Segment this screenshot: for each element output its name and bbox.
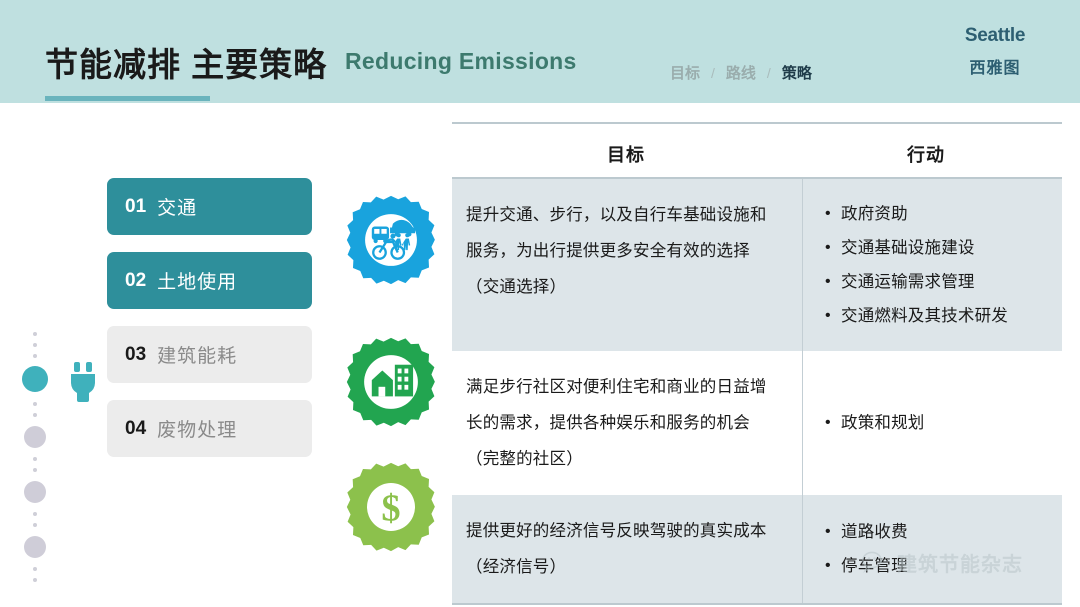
rail-dot <box>33 578 37 582</box>
breadcrumb-item-strategy[interactable]: 策略 <box>782 62 812 83</box>
action-item-label: 政府资助 <box>841 197 908 231</box>
action-item: • 政策和规划 <box>825 406 1052 440</box>
action-item-label: 政策和规划 <box>841 406 925 440</box>
breadcrumb-separator: / <box>767 65 771 81</box>
nav-card-building-energy[interactable]: 03 建筑能耗 <box>107 326 312 383</box>
action-item-label: 道路收费 <box>841 515 908 549</box>
gear-transport-icon <box>343 192 439 288</box>
gear-economy-icon: $ <box>343 459 439 555</box>
breadcrumb: 目标 / 路线 / 策略 <box>670 62 812 83</box>
action-item: • 道路收费 <box>825 515 1052 549</box>
strategy-nav-list: 01 交通 02 土地使用 03 建筑能耗 04 废物处理 <box>107 178 312 474</box>
rail-step-inactive[interactable] <box>24 426 46 448</box>
rail-dot <box>33 402 37 406</box>
nav-card-label: 土地使用 <box>157 267 237 294</box>
rail-step-inactive[interactable] <box>24 536 46 558</box>
goal-cell: 提供更好的经济信号反映驾驶的真实成本（经济信号） <box>452 495 802 603</box>
table-row: 提升交通、步行，以及自行车基础设施和服务，为出行提供更多安全有效的选择（交通选择… <box>452 179 1062 351</box>
breadcrumb-separator: / <box>711 65 715 81</box>
rail-step-active[interactable] <box>22 366 48 392</box>
gear-building-icon <box>343 334 439 430</box>
progress-rail <box>22 330 48 600</box>
goal-cell: 提升交通、步行，以及自行车基础设施和服务，为出行提供更多安全有效的选择（交通选择… <box>452 179 802 351</box>
nav-card-number: 03 <box>125 344 146 366</box>
seattle-logo-en: Seattle <box>930 25 1060 47</box>
action-item: • 交通燃料及其技术研发 <box>825 299 1052 333</box>
title-underline <box>45 96 210 101</box>
rail-dot <box>33 413 37 417</box>
table-header-row: 目标 行动 <box>452 122 1062 179</box>
bullet-icon: • <box>825 299 841 333</box>
slide-header: 节能减排 主要策略 Reducing Emissions 目标 / 路线 / 策… <box>0 0 1080 103</box>
seattle-logo-cn: 西雅图 <box>930 54 1060 78</box>
page-title: 节能减排 主要策略 <box>45 38 327 86</box>
column-header-goal: 目标 <box>607 141 645 167</box>
bullet-icon: • <box>825 549 841 583</box>
page-subtitle: Reducing Emissions <box>345 48 577 75</box>
table-bottom-rule <box>452 603 1062 605</box>
nav-card-number: 04 <box>125 418 146 440</box>
nav-card-land-use[interactable]: 02 土地使用 <box>107 252 312 309</box>
rail-dot <box>33 457 37 461</box>
action-item: • 交通基础设施建设 <box>825 231 1052 265</box>
nav-card-number: 01 <box>125 196 146 218</box>
svg-text:$: $ <box>381 487 400 529</box>
watermark: 建筑节能杂志 <box>862 548 1023 577</box>
rail-step-inactive[interactable] <box>24 481 46 503</box>
rail-dot <box>33 512 37 516</box>
breadcrumb-item-goals[interactable]: 目标 <box>670 62 700 83</box>
goal-cell: 满足步行社区对便利住宅和商业的日益增长的需求，提供各种娱乐和服务的机会（完整的社… <box>452 351 802 495</box>
action-item-label: 交通燃料及其技术研发 <box>841 299 1008 333</box>
bullet-icon: • <box>825 197 841 231</box>
action-item-label: 交通运输需求管理 <box>841 265 975 299</box>
breadcrumb-item-roadmap[interactable]: 路线 <box>726 62 756 83</box>
rail-dot <box>33 343 37 347</box>
table-row: 满足步行社区对便利住宅和商业的日益增长的需求，提供各种娱乐和服务的机会（完整的社… <box>452 351 1062 495</box>
bullet-icon: • <box>825 515 841 549</box>
wechat-icon <box>862 551 888 575</box>
rail-dot <box>33 332 37 336</box>
action-item: • 政府资助 <box>825 197 1052 231</box>
rail-dot <box>33 468 37 472</box>
column-header-action: 行动 <box>907 141 945 167</box>
nav-card-label: 废物处理 <box>157 415 237 442</box>
action-cell: • 政府资助 • 交通基础设施建设 • 交通运输需求管理 • 交通燃料及其技术研… <box>802 179 1062 351</box>
nav-card-transport[interactable]: 01 交通 <box>107 178 312 235</box>
rail-dot <box>33 567 37 571</box>
nav-card-label: 建筑能耗 <box>157 341 237 368</box>
bullet-icon: • <box>825 406 841 440</box>
slide-root: 节能减排 主要策略 Reducing Emissions 目标 / 路线 / 策… <box>0 0 1080 607</box>
nav-card-number: 02 <box>125 270 146 292</box>
action-item: • 交通运输需求管理 <box>825 265 1052 299</box>
plug-icon <box>66 362 100 402</box>
nav-card-label: 交通 <box>157 193 197 220</box>
watermark-text: 建筑节能杂志 <box>897 548 1023 577</box>
nav-card-waste[interactable]: 04 废物处理 <box>107 400 312 457</box>
bullet-icon: • <box>825 265 841 299</box>
bullet-icon: • <box>825 231 841 265</box>
strategy-table: 目标 行动 提升交通、步行，以及自行车基础设施和服务，为出行提供更多安全有效的选… <box>452 122 1062 605</box>
rail-dot <box>33 523 37 527</box>
action-cell: • 政策和规划 <box>802 351 1062 495</box>
seattle-logo: Seattle 西雅图 <box>930 25 1060 78</box>
rail-dot <box>33 354 37 358</box>
action-item-label: 交通基础设施建设 <box>841 231 975 265</box>
